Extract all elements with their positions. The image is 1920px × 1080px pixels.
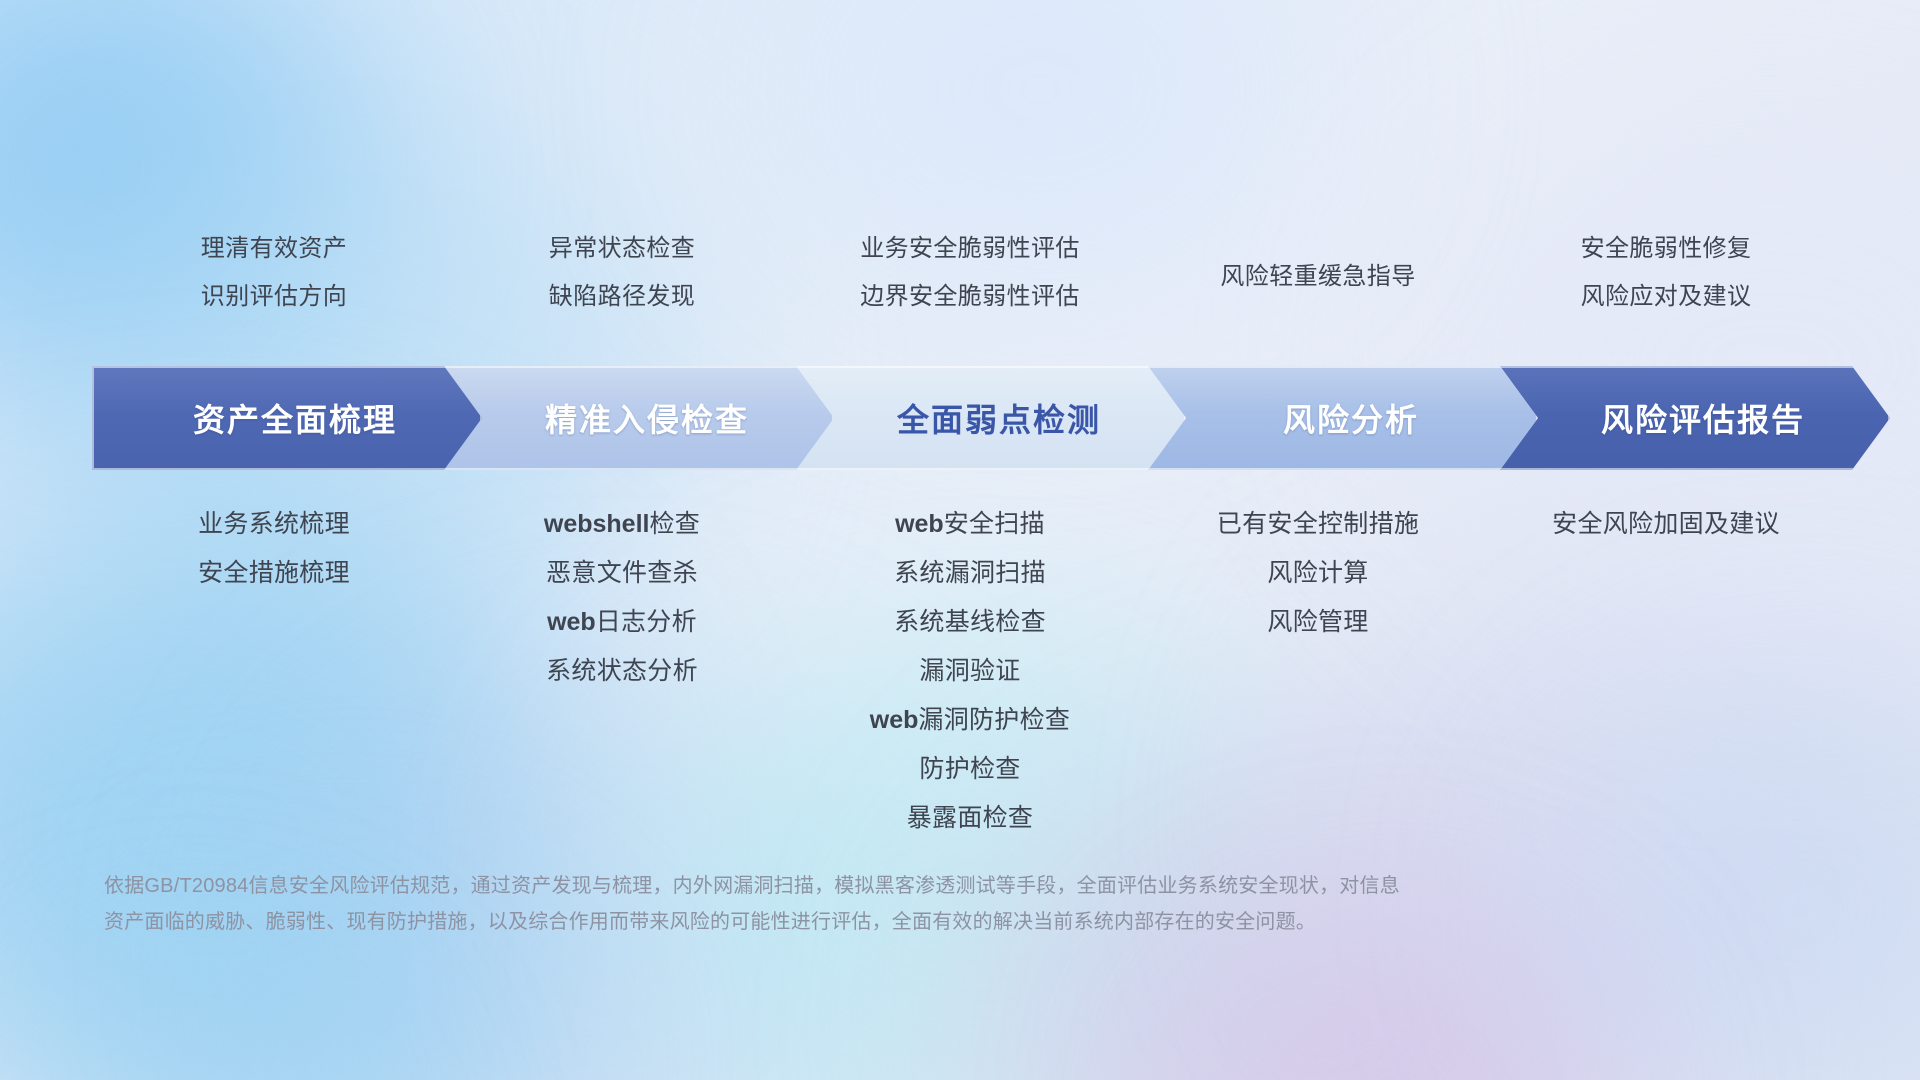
bottom-items-col-3: web安全扫描系统漏洞扫描系统基线检查漏洞验证web漏洞防护检查防护检查暴露面检… — [796, 500, 1144, 843]
chevron-label: 风险评估报告 — [1500, 395, 1890, 441]
chevron-stage-4[interactable]: 风险分析 — [1148, 366, 1538, 470]
bottom-item-keyword: web — [547, 608, 596, 636]
chevron-stage-3[interactable]: 全面弱点检测 — [796, 366, 1186, 470]
top-caption-col-3: 业务安全脆弱性评估边界安全脆弱性评估 — [796, 225, 1144, 335]
bottom-item-keyword: web — [895, 510, 944, 538]
bottom-item-text: 防护检查 — [919, 755, 1020, 783]
bottom-item: 风险管理 — [1267, 598, 1368, 647]
bottom-item-text: 系统基线检查 — [894, 608, 1046, 636]
bottom-item: 暴露面检查 — [907, 794, 1034, 843]
chevron-label: 全面弱点检测 — [796, 395, 1186, 441]
bottom-item: 系统状态分析 — [546, 647, 698, 696]
bottom-item-text: 系统漏洞扫描 — [894, 559, 1046, 587]
bottom-item-text: 已有安全控制措施 — [1217, 510, 1419, 538]
bottom-item: 恶意文件查杀 — [546, 549, 698, 598]
bottom-item-text: 安全扫描 — [944, 510, 1045, 538]
bottom-item-keyword: webshell — [544, 510, 650, 538]
top-caption-line: 识别评估方向 — [201, 273, 347, 321]
chevron-label: 资产全面梳理 — [92, 395, 482, 441]
top-captions-row: 理清有效资产识别评估方向异常状态检查缺陷路径发现业务安全脆弱性评估边界安全脆弱性… — [100, 225, 1840, 335]
top-caption-col-1: 理清有效资产识别评估方向 — [100, 225, 448, 335]
bottom-item: web漏洞防护检查 — [870, 696, 1070, 745]
chevron-label: 风险分析 — [1148, 395, 1538, 441]
bottom-item-text: 漏洞验证 — [919, 657, 1020, 685]
bottom-item-text: 系统状态分析 — [546, 657, 698, 685]
bottom-item: 系统漏洞扫描 — [894, 549, 1046, 598]
bottom-item-text: 日志分析 — [596, 608, 697, 636]
bottom-item: 漏洞验证 — [919, 647, 1020, 696]
bottom-item-text: 风险计算 — [1267, 559, 1368, 587]
bottom-item: webshell检查 — [544, 500, 700, 549]
top-caption-line: 边界安全脆弱性评估 — [860, 273, 1080, 321]
bottom-item: 安全措施梳理 — [198, 549, 350, 598]
bottom-items-col-4: 已有安全控制措施风险计算风险管理 — [1144, 500, 1492, 647]
bottom-items-col-5: 安全风险加固及建议 — [1492, 500, 1840, 549]
top-caption-line: 安全脆弱性修复 — [1581, 225, 1752, 273]
bottom-item-text: 检查 — [649, 510, 700, 538]
bottom-item-keyword: web — [870, 706, 919, 734]
bottom-item: 安全风险加固及建议 — [1552, 500, 1780, 549]
chevron-stage-1[interactable]: 资产全面梳理 — [92, 366, 482, 470]
bottom-item: 风险计算 — [1267, 549, 1368, 598]
top-caption-col-4: 风险轻重缓急指导 — [1144, 225, 1492, 335]
bottom-item: 防护检查 — [919, 745, 1020, 794]
top-caption-line: 风险轻重缓急指导 — [1220, 253, 1415, 301]
process-chevron-banner: 资产全面梳理精准入侵检查全面弱点检测风险分析风险评估报告 — [92, 366, 1852, 470]
footer-line-2: 资产面临的威胁、脆弱性、现有防护措施，以及综合作用而带来风险的可能性进行评估，全… — [104, 904, 1624, 940]
top-caption-line: 理清有效资产 — [201, 225, 347, 273]
bottom-item-text: 安全措施梳理 — [198, 559, 350, 587]
chevron-label: 精准入侵检查 — [444, 395, 834, 441]
footer-description: 依据GB/T20984信息安全风险评估规范，通过资产发现与梳理，内外网漏洞扫描，… — [104, 868, 1624, 940]
bottom-items-col-2: webshell检查恶意文件查杀web日志分析系统状态分析 — [448, 500, 796, 696]
bottom-item-text: 漏洞防护检查 — [918, 706, 1070, 734]
footer-line-1: 依据GB/T20984信息安全风险评估规范，通过资产发现与梳理，内外网漏洞扫描，… — [104, 868, 1624, 904]
bottom-item-text: 暴露面检查 — [907, 804, 1034, 832]
top-caption-line: 风险应对及建议 — [1581, 273, 1752, 321]
top-caption-line: 缺陷路径发现 — [549, 273, 695, 321]
bottom-item: 业务系统梳理 — [198, 500, 350, 549]
top-caption-line: 异常状态检查 — [549, 225, 695, 273]
slide-content: 理清有效资产识别评估方向异常状态检查缺陷路径发现业务安全脆弱性评估边界安全脆弱性… — [0, 0, 1920, 1080]
top-caption-line: 业务安全脆弱性评估 — [860, 225, 1080, 273]
bottom-item-text: 风险管理 — [1267, 608, 1368, 636]
chevron-stage-2[interactable]: 精准入侵检查 — [444, 366, 834, 470]
bottom-item: 系统基线检查 — [894, 598, 1046, 647]
bottom-items-row: 业务系统梳理安全措施梳理webshell检查恶意文件查杀web日志分析系统状态分… — [100, 500, 1840, 843]
bottom-item: 已有安全控制措施 — [1217, 500, 1419, 549]
bottom-item-text: 安全风险加固及建议 — [1552, 510, 1780, 538]
chevron-stage-5[interactable]: 风险评估报告 — [1500, 366, 1890, 470]
top-caption-col-2: 异常状态检查缺陷路径发现 — [448, 225, 796, 335]
bottom-item-text: 恶意文件查杀 — [546, 559, 698, 587]
top-caption-col-5: 安全脆弱性修复风险应对及建议 — [1492, 225, 1840, 335]
bottom-items-col-1: 业务系统梳理安全措施梳理 — [100, 500, 448, 598]
bottom-item-text: 业务系统梳理 — [198, 510, 350, 538]
bottom-item: web日志分析 — [547, 598, 697, 647]
bottom-item: web安全扫描 — [895, 500, 1045, 549]
